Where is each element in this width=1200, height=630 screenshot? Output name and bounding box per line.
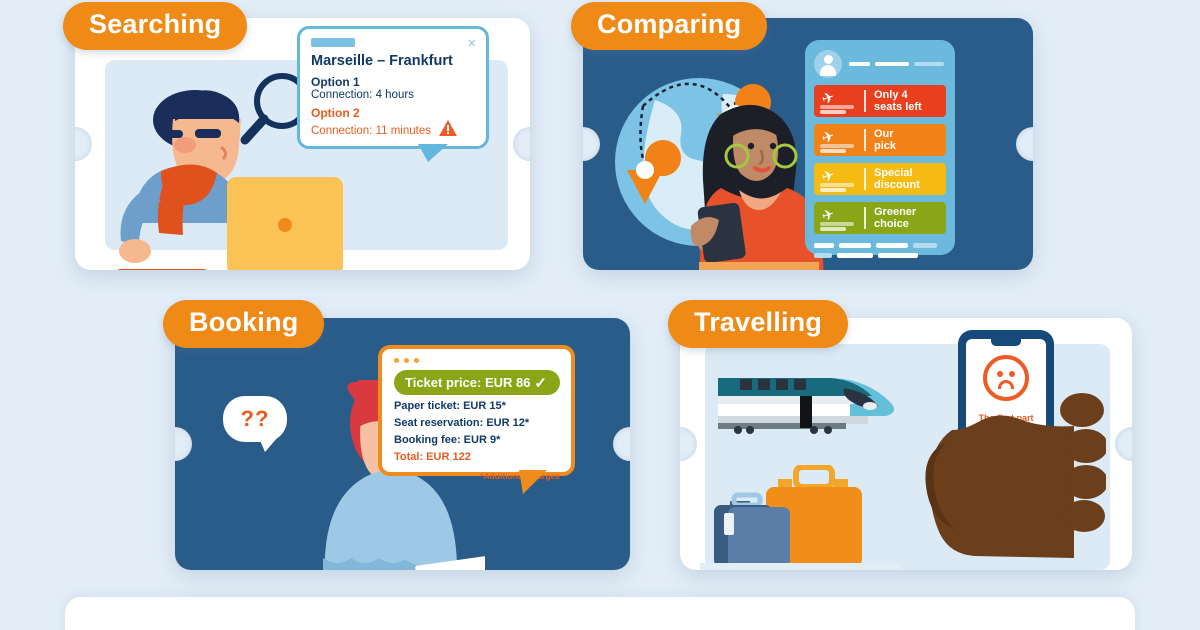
total-line: Total: EUR 122 [394,451,560,463]
price-breakdown-bubble: Ticket price: EUR 86 ✓ Paper ticket: EUR… [378,345,575,476]
check-icon: ✓ [534,374,547,392]
header-skeleton-bars [849,62,944,66]
plane-thumbnail: ✈ [814,124,864,156]
ticket-price-label: Ticket price: EUR 86 [405,375,530,390]
comparison-phone: ✈ Only 4 seats left ✈ Our pick [805,40,955,255]
search-result-popup: × Marseille – Frankfurt Option 1 Connect… [297,26,489,149]
phone-footer-skeleton [814,243,946,258]
footer-panel [65,597,1135,630]
badge-searching: Searching [63,2,247,50]
avatar [814,50,842,78]
phone-notch [991,339,1021,346]
infographic-canvas: × Marseille – Frankfurt Option 1 Connect… [0,0,1200,630]
option-label: Only 4 seats left [866,89,922,113]
close-icon[interactable]: × [467,36,476,51]
option-row-special-discount[interactable]: ✈ Special discount [814,163,946,195]
window-dots [394,358,560,363]
question-marks: ?? [241,406,270,432]
option-2-label: Option 2 [311,106,475,120]
popup-tail [418,144,448,162]
option-label: Special discount [866,167,920,191]
plane-thumbnail: ✈ [814,85,864,117]
option-1-detail: Connection: 4 hours [311,89,475,101]
option-2-detail: Connection: 11 minutes [311,125,431,137]
option-1-label: Option 1 [311,75,475,89]
fee-line: Seat reservation: EUR 12* [394,417,560,429]
popup-skeleton-bar [311,38,355,47]
plane-thumbnail: ✈ [814,202,864,234]
phone-header [814,50,946,78]
route-title: Marseille – Frankfurt [311,53,475,69]
ticket-price-pill: Ticket price: EUR 86 ✓ [394,370,560,395]
badge-travelling: Travelling [668,300,848,348]
panel-booking: ?? Ticket price: EUR 86 ✓ Paper ticket: … [175,318,630,570]
badge-comparing: Comparing [571,2,767,50]
illustration-train [718,370,898,440]
option-row-our-pick[interactable]: ✈ Our pick [814,124,946,156]
illustration-hand [916,378,1106,558]
fee-line: Booking fee: EUR 9* [394,434,560,446]
option-row-only-4-seats-left[interactable]: ✈ Only 4 seats left [814,85,946,117]
plane-thumbnail: ✈ [814,163,864,195]
panel-travelling: The first part of your journey has been … [680,318,1132,570]
option-row-greener-choice[interactable]: ✈ Greener choice [814,202,946,234]
panel-comparing: ✈ Only 4 seats left ✈ Our pick [583,18,1033,270]
illustration-suitcases [700,465,900,570]
panel-searching: × Marseille – Frankfurt Option 1 Connect… [75,18,530,270]
warning-triangle-icon [439,120,457,136]
badge-booking: Booking [163,300,324,348]
fee-line: Paper ticket: EUR 15* [394,400,560,412]
bubble-tail [519,470,547,494]
thought-bubble: ?? [223,396,287,442]
option-label: Our pick [866,128,896,152]
option-label: Greener choice [866,206,916,230]
